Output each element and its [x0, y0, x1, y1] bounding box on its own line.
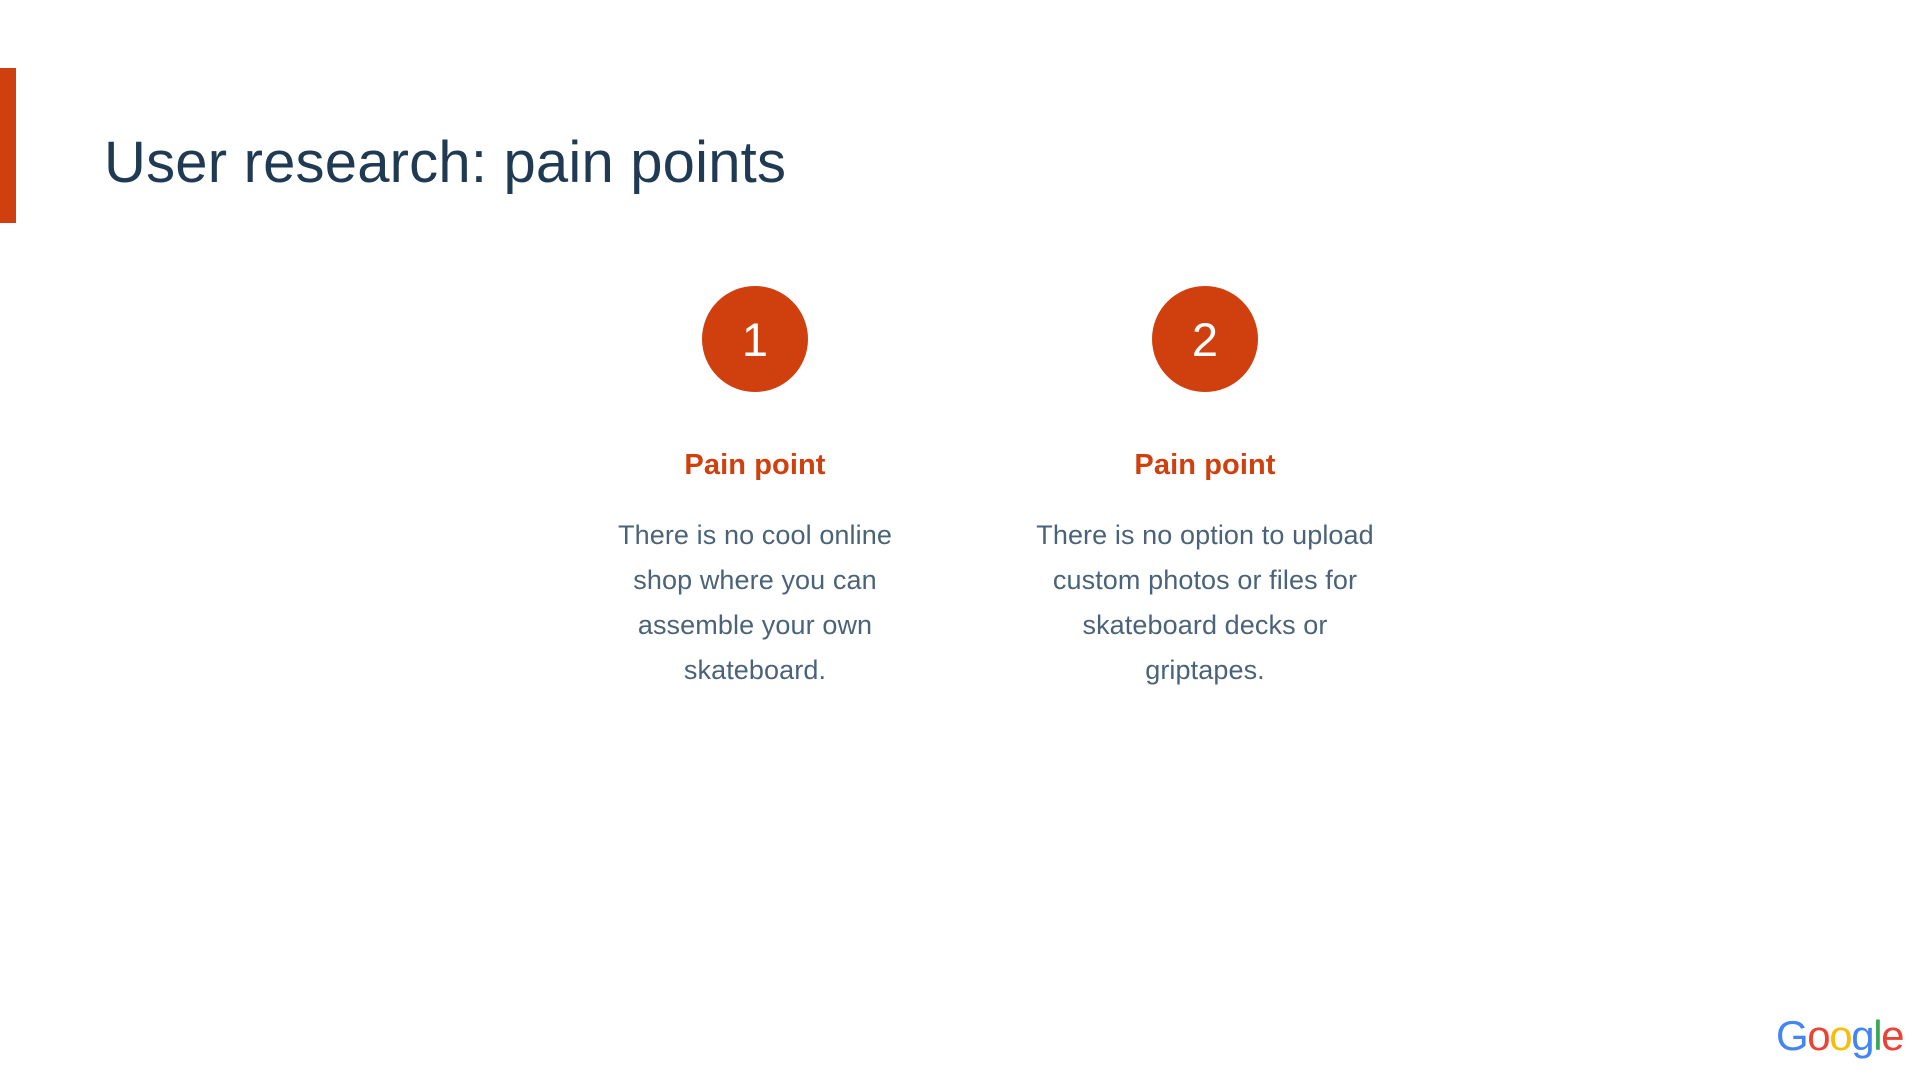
google-logo-letter-l: l: [1873, 1015, 1881, 1057]
slide-canvas: User research: pain points 1 Pain point …: [0, 0, 1920, 1080]
page-title: User research: pain points: [104, 130, 786, 197]
pain-point-body-2: There is no option to upload custom phot…: [1030, 513, 1380, 693]
pain-point-body-1: There is no cool online shop where you c…: [595, 513, 915, 693]
pain-point-column-1: 1 Pain point There is no cool online sho…: [530, 286, 980, 693]
accent-bar: [0, 68, 16, 223]
google-logo-letter-o-2: o: [1829, 1015, 1851, 1057]
pain-point-column-2: 2 Pain point There is no option to uploa…: [980, 286, 1430, 693]
google-logo: Google: [1776, 1015, 1903, 1057]
google-logo-letter-g-lower: g: [1851, 1015, 1873, 1057]
google-logo-letter-e: e: [1881, 1015, 1903, 1057]
google-logo-letter-g-upper: G: [1776, 1015, 1807, 1057]
pain-points-group: 1 Pain point There is no cool online sho…: [530, 286, 1430, 693]
number-badge-2: 2: [1152, 286, 1258, 392]
google-logo-letter-o-1: o: [1807, 1015, 1829, 1057]
pain-point-heading-2: Pain point: [1134, 448, 1275, 483]
number-badge-1: 1: [702, 286, 808, 392]
pain-point-heading-1: Pain point: [684, 448, 825, 483]
